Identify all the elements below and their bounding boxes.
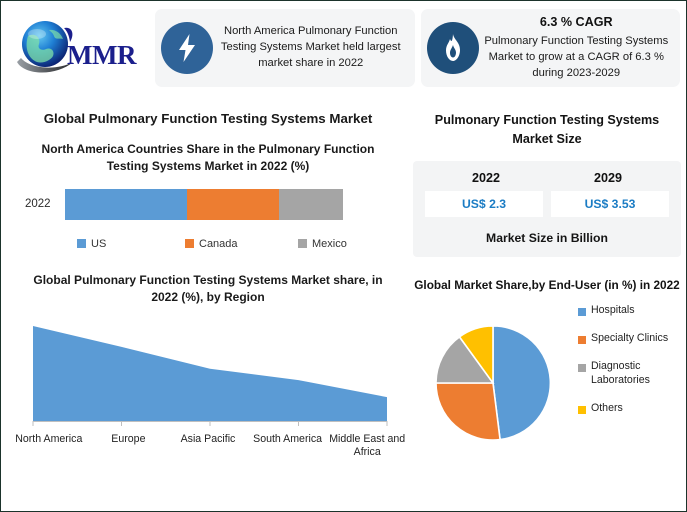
flame-icon — [427, 22, 479, 74]
header-badge-cagr-text: 6.3 % CAGR Pulmonary Function Testing Sy… — [479, 14, 673, 82]
legend-item-canada: Canada — [185, 238, 298, 250]
area-series-market-share — [33, 326, 387, 421]
stacked-bar — [65, 189, 343, 220]
legend-label-us: US — [91, 238, 106, 250]
bar-segment-mexico — [279, 189, 343, 220]
cagr-headline: 6.3 % CAGR — [483, 14, 671, 32]
market-size-year-headers: 2022 2029 — [425, 171, 669, 185]
bar-chart-title: North America Countries Share in the Pul… — [9, 141, 407, 176]
left-column: Global Pulmonary Function Testing System… — [9, 101, 407, 505]
legend-swatch-icon-others — [578, 406, 586, 414]
area-chart-axis-labels: North America Europe Asia Pacific South … — [9, 433, 407, 461]
lightning-bolt-icon — [161, 22, 213, 74]
legend-swatch-icon-canada — [185, 239, 194, 248]
bar-chart-legend: US Canada Mexico — [9, 238, 407, 250]
market-size-unit-caption: Market Size in Billion — [425, 231, 669, 245]
axis-label-south-america: South America — [248, 433, 328, 461]
pie-legend-label-specialty-clinics: Specialty Clinics — [591, 332, 668, 346]
legend-label-canada: Canada — [199, 238, 238, 250]
pie-legend-item-others: Others — [578, 402, 682, 416]
cagr-description: Pulmonary Function Testing Systems Marke… — [484, 35, 668, 79]
area-chart: North America Europe Asia Pacific South … — [9, 321, 407, 436]
pie-legend-item-diagnostic-laboratories: Diagnostic Laboratories — [578, 360, 682, 388]
pie-slice-specialty-clinics — [436, 383, 500, 440]
infographic-canvas: MMR North America Pulmonary Function Tes… — [0, 0, 687, 512]
axis-label-europe: Europe — [89, 433, 169, 461]
legend-swatch-icon-hospitals — [578, 308, 586, 316]
bar-segment-us — [65, 189, 187, 220]
market-size-value-2022: US$ 2.3 — [425, 191, 543, 217]
pie-slice-hospitals — [493, 326, 550, 440]
brand-logo: MMR — [9, 9, 149, 89]
header-row: MMR North America Pulmonary Function Tes… — [9, 9, 680, 95]
market-size-year-2029: 2029 — [547, 171, 669, 185]
legend-swatch-icon-specialty-clinics — [578, 336, 586, 344]
page-title: Global Pulmonary Function Testing System… — [9, 111, 407, 126]
market-size-values: US$ 2.3 US$ 3.53 — [425, 191, 669, 217]
pie-chart: Hospitals Specialty Clinics Diagnostic L… — [413, 304, 681, 464]
pie-chart-title: Global Market Share,by End-User (in %) i… — [413, 277, 681, 294]
axis-label-asia-pacific: Asia Pacific — [168, 433, 248, 461]
bar-category-label: 2022 — [25, 198, 51, 210]
legend-item-mexico: Mexico — [298, 238, 347, 250]
right-column: Pulmonary Function Testing Systems Marke… — [413, 101, 681, 505]
area-chart-svg — [9, 321, 407, 436]
brand-name: MMR — [67, 40, 136, 71]
axis-label-middle-east-africa: Middle East and Africa — [327, 433, 407, 461]
legend-swatch-icon-diagnostic-laboratories — [578, 364, 586, 372]
market-size-value-2029: US$ 3.53 — [551, 191, 669, 217]
market-size-title: Pulmonary Function Testing Systems Marke… — [413, 111, 681, 149]
legend-swatch-icon-us — [77, 239, 86, 248]
header-badge-north-america-text: North America Pulmonary Function Testing… — [213, 24, 407, 72]
market-size-year-2022: 2022 — [425, 171, 547, 185]
pie-chart-svg — [421, 308, 571, 458]
pie-legend-label-others: Others — [591, 402, 623, 416]
header-badge-north-america: North America Pulmonary Function Testing… — [155, 9, 415, 87]
pie-legend-label-diagnostic-laboratories: Diagnostic Laboratories — [591, 360, 682, 388]
axis-label-north-america: North America — [9, 433, 89, 461]
bar-segment-canada — [187, 189, 279, 220]
stacked-bar-chart: 2022 — [9, 189, 407, 225]
pie-legend-item-hospitals: Hospitals — [578, 304, 682, 318]
legend-swatch-icon-mexico — [298, 239, 307, 248]
legend-item-us: US — [77, 238, 185, 250]
legend-label-mexico: Mexico — [312, 238, 347, 250]
globe-logo-wrap: MMR — [9, 14, 149, 84]
pie-legend-label-hospitals: Hospitals — [591, 304, 635, 318]
pie-legend-item-specialty-clinics: Specialty Clinics — [578, 332, 682, 346]
pie-chart-legend: Hospitals Specialty Clinics Diagnostic L… — [578, 304, 682, 430]
market-size-panel: 2022 2029 US$ 2.3 US$ 3.53 Market Size i… — [413, 161, 681, 257]
header-badge-cagr: 6.3 % CAGR Pulmonary Function Testing Sy… — [421, 9, 681, 87]
area-chart-title: Global Pulmonary Function Testing System… — [9, 272, 407, 307]
